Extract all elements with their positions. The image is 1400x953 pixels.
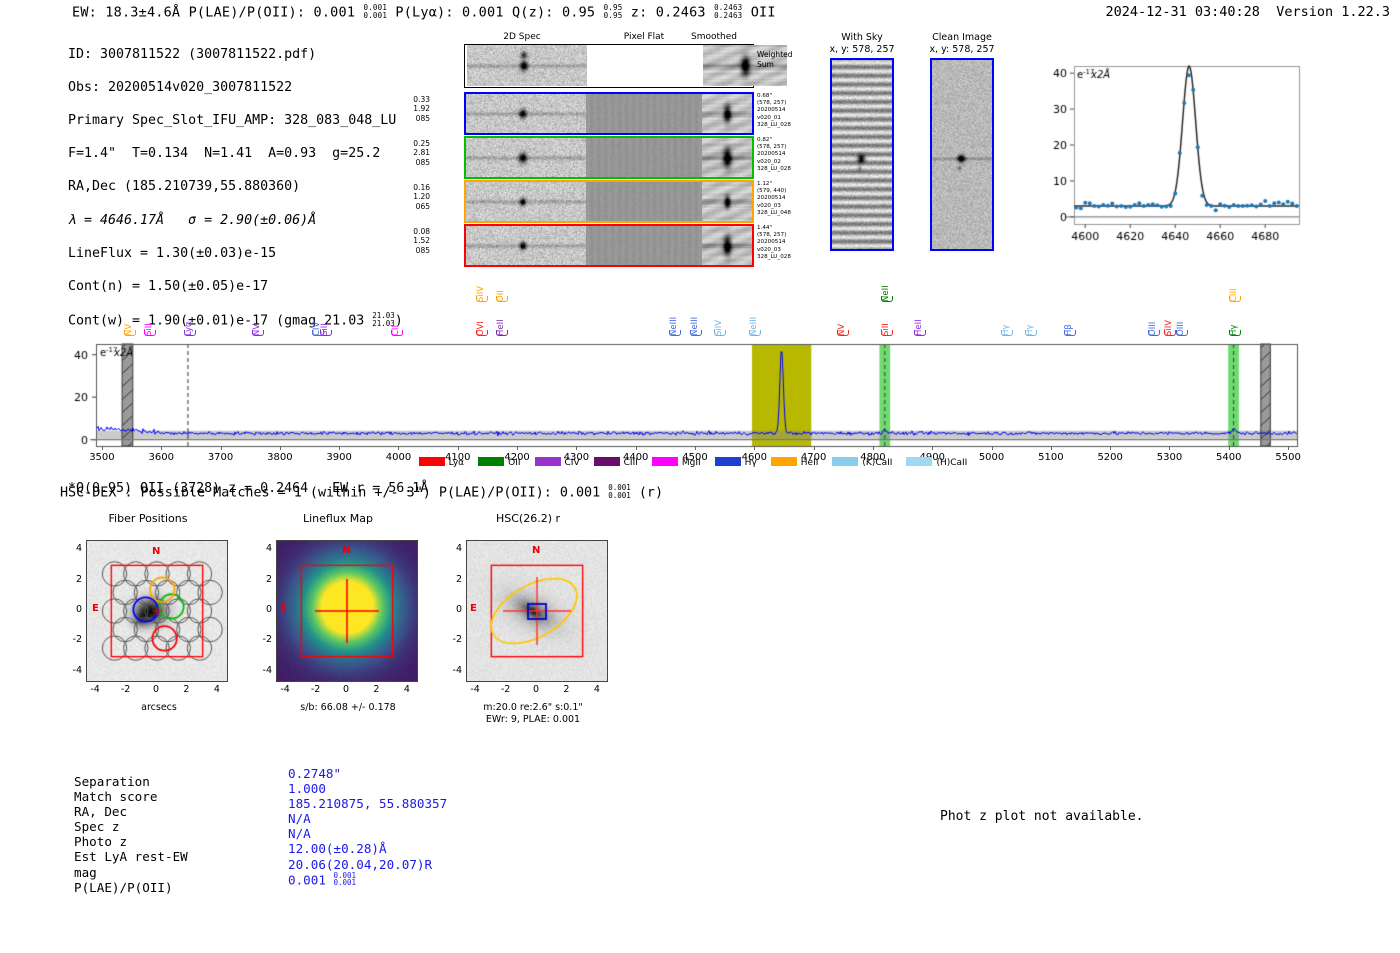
emission-line-bracket <box>1229 296 1241 302</box>
match-table-value: 20.06(20.04,20.07)R <box>288 857 447 872</box>
lineflux-x-tick: 4 <box>396 684 418 695</box>
legend-swatch <box>652 457 678 466</box>
weighted-sum-row <box>464 44 754 88</box>
weighted-sum-label: WeightedSum <box>757 50 793 69</box>
emission-line-label: SiIV <box>714 288 724 336</box>
info-fwhm: F=1.4" T=0.134 N=1.41 A=0.93 g=25.2 <box>68 146 428 163</box>
fiber-xlabel: arcsecs <box>88 702 230 714</box>
hsc-x-tick: 2 <box>555 684 577 695</box>
emission-line-bracket <box>749 330 761 336</box>
spec2d-row-left-values: 0.081.52085 <box>402 227 430 255</box>
emission-line-label: NV <box>252 288 262 336</box>
with-sky-subtitle: x, y: 578, 257 <box>820 44 904 56</box>
clean-image-cutout: Clean Image x, y: 578, 257 <box>920 32 1004 251</box>
match-plae-fraction: 0.0010.001 <box>334 872 357 887</box>
spec2d-col-title-smoothed: Smoothed <box>654 32 774 42</box>
hsc-y-tick: -2 <box>440 634 462 645</box>
emission-line-label: OIII <box>1148 288 1158 336</box>
header-timestamp-version: 2024-12-31 03:40:28 Version 1.22.3 <box>1106 4 1391 20</box>
lineflux-compass-n: N <box>342 545 350 556</box>
emission-line-bracket <box>144 330 156 336</box>
hsc-caption-1: m:20.0 re:2.6" s:0.1" <box>438 702 628 714</box>
lineflux-x-tick: -2 <box>305 684 327 695</box>
match-table-key: Photo z <box>74 834 188 849</box>
legend-label: MgII <box>682 458 701 468</box>
hsc-x-tick: 0 <box>525 684 547 695</box>
legend-swatch <box>715 457 741 466</box>
emission-line-bracket <box>837 330 849 336</box>
legend-item: CIII <box>594 457 638 468</box>
lineflux-caption: s/b: 66.08 +/- 0.178 <box>258 702 438 714</box>
emission-line-bracket <box>496 296 508 302</box>
spec2d-row <box>464 136 754 179</box>
fiber-positions-panel: Fiber Positions -4-2024 -4-2024 NE arcse… <box>58 512 238 525</box>
legend-swatch <box>535 457 561 466</box>
spec2d-row-right-meta: 1.12"(579, 440)20200514v020_03328_LU_048 <box>757 181 791 217</box>
emission-line-label: CIII <box>1229 254 1239 302</box>
fiber-compass-e: E <box>92 603 99 614</box>
lineflux-map-title: Lineflux Map <box>248 512 428 525</box>
emission-line-bracket <box>1164 330 1176 336</box>
spec2d-row-right-meta: 0.68"(578, 257)20200514v020_01328_LU_028 <box>757 93 791 129</box>
lineflux-x-tick: 2 <box>365 684 387 695</box>
legend-label: (K)CaII <box>862 458 892 468</box>
header-z-fraction: 0.24630.2463 <box>714 4 742 19</box>
emission-line-label: NeIII <box>690 288 700 336</box>
emission-line-label: Hγ <box>1025 288 1035 336</box>
hsc-y-tick: 0 <box>440 604 462 615</box>
match-table-value: 0.001 0.0010.001 <box>288 872 447 888</box>
legend-item: (K)CaII <box>832 457 892 468</box>
spec2d-row <box>464 224 754 267</box>
legend-item: Lyα <box>419 457 464 468</box>
header-qz-fraction: 0.950.95 <box>604 4 623 19</box>
spec2d-row <box>464 92 754 135</box>
emission-line-label: NeII <box>881 254 891 302</box>
emission-line-label: NeIII <box>669 288 679 336</box>
header-summary-line: EW: 18.3±4.6Å P(LAE)/P(OII): 0.001 0.001… <box>72 4 776 21</box>
match-table-value: N/A <box>288 826 447 841</box>
emission-line-bracket <box>690 330 702 336</box>
header-summary-prefix: EW: 18.3±4.6Å P(LAE)/P(OII): 0.001 <box>72 5 363 21</box>
lineflux-compass-e: E <box>280 603 287 614</box>
emission-line-bracket <box>1229 330 1241 336</box>
legend-item: MgII <box>652 457 701 468</box>
full-spectrum-panel: NVSiIILyαNVCIVSiIICIIOVISiIVHeIIOIINeIII… <box>0 272 1400 472</box>
lineflux-map-panel: Lineflux Map -4-2024 -4-2024 NE s/b: 66.… <box>248 512 428 525</box>
emission-line-label: NV <box>124 288 134 336</box>
legend-swatch <box>478 457 504 466</box>
legend-item: (H)CaII <box>906 457 967 468</box>
emission-line-bracket <box>669 330 681 336</box>
legend-item: CIV <box>535 457 580 468</box>
legend-swatch <box>419 457 445 466</box>
emission-line-label: Hγ <box>1001 288 1011 336</box>
emission-line-label: HeII <box>914 288 924 336</box>
hsc-dex-header: HSC-DEX : Possible Matches = 1 (within +… <box>60 484 663 501</box>
legend-item: OII <box>478 457 520 468</box>
emission-line-label: SiIV <box>476 254 486 302</box>
lineflux-y-tick: -2 <box>250 634 272 645</box>
header-summary-z: z: 0.2463 <box>622 5 714 21</box>
emission-line-bracket <box>320 330 332 336</box>
hsc-y-tick: -4 <box>440 665 462 676</box>
hsc-y-tick: 2 <box>440 574 462 585</box>
info-id: ID: 3007811522 (3007811522.pdf) <box>68 47 428 64</box>
lineflux-y-tick: -4 <box>250 665 272 676</box>
emission-line-bracket <box>1025 330 1037 336</box>
header-datetime: 2024-12-31 03:40:28 <box>1106 4 1260 20</box>
emission-line-label: CII <box>391 288 401 336</box>
emission-line-bracket <box>124 330 136 336</box>
legend-swatch <box>771 457 797 466</box>
info-lineflux: LineFlux = 1.30(±0.03)e-15 <box>68 246 428 263</box>
legend-label: (H)CaII <box>936 458 967 468</box>
emission-line-bracket <box>184 330 196 336</box>
emission-line-bracket <box>476 330 488 336</box>
weighted-sum-pixelflat-blank <box>587 45 703 86</box>
spec2d-row-right-meta: 1.44"(578, 257)20200514v020_03328_LU_028 <box>757 225 791 261</box>
photz-note: Phot z plot not available. <box>940 809 1144 824</box>
with-sky-cutout: With Sky x, y: 578, 257 <box>820 32 904 251</box>
lineflux-x-tick: 0 <box>335 684 357 695</box>
legend-label: OII <box>508 458 520 468</box>
info-obs: Obs: 20200514v020_3007811522 <box>68 80 428 97</box>
legend-swatch <box>906 457 932 466</box>
emission-line-bracket <box>391 330 403 336</box>
emission-line-bracket <box>476 296 488 302</box>
fiber-y-tick: 0 <box>60 604 82 615</box>
emission-line-label: NeIII <box>749 288 759 336</box>
spec2d-row-left-values: 0.161.20065 <box>402 183 430 211</box>
fiber-y-tick: 4 <box>60 543 82 554</box>
fiber-compass-n: N <box>152 546 160 557</box>
match-table-value: N/A <box>288 811 447 826</box>
fiber-x-tick: -4 <box>84 684 106 695</box>
emission-line-bracket <box>881 296 893 302</box>
fiber-x-tick: 4 <box>206 684 228 695</box>
legend-label: Lyα <box>449 458 464 468</box>
fiber-x-tick: -2 <box>115 684 137 695</box>
emission-line-label: SiII <box>144 288 154 336</box>
clean-image-subtitle: x, y: 578, 257 <box>920 44 1004 56</box>
fiber-x-tick: 2 <box>175 684 197 695</box>
clean-image-title: Clean Image <box>920 32 1004 44</box>
match-table-value: 185.210875, 55.880357 <box>288 796 447 811</box>
match-table-value: 12.00(±0.28)Å <box>288 841 447 856</box>
legend-label: Hγ <box>745 458 757 468</box>
header-summary-mid: P(Lyα): 0.001 Q(z): 0.95 <box>387 5 604 21</box>
spec2d-col-title-2dspec: 2D Spec <box>462 32 582 42</box>
emission-line-bracket <box>1064 330 1076 336</box>
emission-line-bracket <box>1148 330 1160 336</box>
hsc-x-tick: 4 <box>586 684 608 695</box>
header-plae-fraction: 0.0010.001 <box>363 4 387 19</box>
match-table-key: RA, Dec <box>74 804 188 819</box>
emission-line-label: OII <box>496 254 506 302</box>
hsc-compass-n: N <box>532 545 540 556</box>
hsc-caption-2: EWr: 9, PLAE: 0.001 <box>438 714 628 726</box>
hsc-dex-plae-fraction: 0.0010.001 <box>608 484 631 499</box>
fiber-x-tick: 0 <box>145 684 167 695</box>
emission-line-bracket <box>881 330 893 336</box>
match-table-key: mag <box>74 865 188 880</box>
lineflux-y-tick: 0 <box>250 604 272 615</box>
emission-line-label: SiIV <box>1164 288 1174 336</box>
hsc-r-panel: HSC(26.2) r -4-2024 -4-2024 NE m:20.0 re… <box>438 512 618 525</box>
lineflux-y-tick: 2 <box>250 574 272 585</box>
spectrum-legend: LyαOIICIVCIIIMgIIHγHeII(K)CaII(H)CaII <box>0 450 1400 469</box>
info-radec: RA,Dec (185.210739,55.880360) <box>68 179 428 196</box>
match-table-key: Match score <box>74 789 188 804</box>
fiber-y-tick: -4 <box>60 665 82 676</box>
hsc-dex-title-a: HSC-DEX : Possible Matches = 1 (within +… <box>60 486 608 501</box>
hsc-r-title: HSC(26.2) r <box>438 512 618 525</box>
emission-line-label: OIII <box>1176 288 1186 336</box>
match-table-keys: SeparationMatch scoreRA, DecSpec zPhoto … <box>74 774 188 895</box>
hsc-y-tick: 4 <box>440 543 462 554</box>
spec2d-panel: 2D Spec Pixel Flat Smoothed WeightedSum … <box>424 32 784 262</box>
header-version: Version 1.22.3 <box>1276 4 1390 20</box>
match-table-key: Spec z <box>74 819 188 834</box>
emission-line-label: Hβ <box>1064 288 1074 336</box>
emission-line-bracket <box>496 330 508 336</box>
legend-swatch <box>832 457 858 466</box>
legend-item: HeII <box>771 457 819 468</box>
match-table-value: 1.000 <box>288 781 447 796</box>
emission-line-label: NV <box>837 288 847 336</box>
emission-line-bracket <box>1001 330 1013 336</box>
legend-label: CIII <box>624 458 638 468</box>
lineflux-x-tick: -4 <box>274 684 296 695</box>
hsc-compass-e: E <box>470 603 477 614</box>
emission-line-bracket <box>252 330 264 336</box>
match-table-value: 0.2748" <box>288 766 447 781</box>
hsc-x-tick: -4 <box>464 684 486 695</box>
lineflux-y-tick: 4 <box>250 543 272 554</box>
spec2d-row-left-values: 0.252.81085 <box>402 139 430 167</box>
legend-swatch <box>594 457 620 466</box>
spec2d-row-left-values: 0.331.92085 <box>402 95 430 123</box>
with-sky-title: With Sky <box>820 32 904 44</box>
info-spec-slot: Primary Spec_Slot_IFU_AMP: 328_083_048_L… <box>68 113 428 130</box>
info-lambda-sigma: λ = 4646.17Å σ = 2.90(±0.06)Å <box>68 213 428 230</box>
legend-label: CIV <box>565 458 580 468</box>
emission-line-bracket <box>1176 330 1188 336</box>
legend-label: HeII <box>801 458 819 468</box>
spec2d-row-right-meta: 0.82"(578, 257)20200514v020_02328_LU_028 <box>757 137 791 173</box>
hsc-x-tick: -2 <box>495 684 517 695</box>
header-summary-suffix: OII <box>742 5 775 21</box>
match-table-key: Est LyA rest-EW <box>74 849 188 864</box>
emission-line-label: Lyα <box>184 288 194 336</box>
legend-item: Hγ <box>715 457 757 468</box>
emission-line-bracket <box>914 330 926 336</box>
match-table-key: Separation <box>74 774 188 789</box>
hsc-dex-title-b: (r) <box>631 486 663 501</box>
emission-line-zoom-plot <box>1030 52 1305 264</box>
match-table-key: P(LAE)/P(OII) <box>74 880 188 895</box>
spec2d-row <box>464 180 754 223</box>
match-table-values: 0.2748"1.000185.210875, 55.880357N/AN/A1… <box>288 766 447 887</box>
fiber-y-tick: 2 <box>60 574 82 585</box>
emission-line-bracket <box>714 330 726 336</box>
fiber-positions-title: Fiber Positions <box>58 512 238 525</box>
emission-line-label: SiII <box>320 288 330 336</box>
fiber-y-tick: -2 <box>60 634 82 645</box>
